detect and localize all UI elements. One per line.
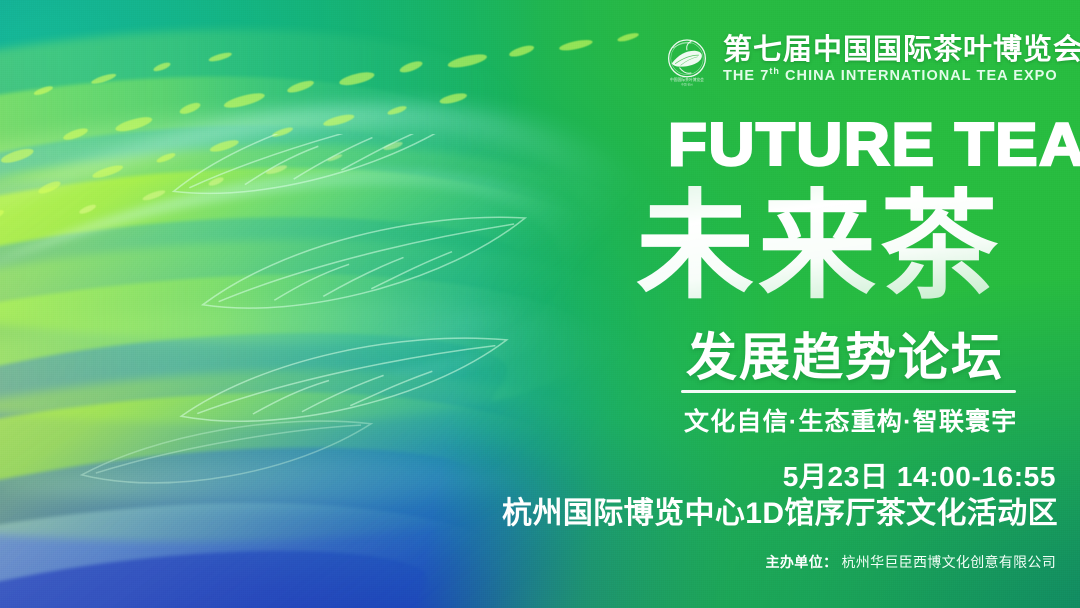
expo-title-en-prefix: THE 7 xyxy=(723,68,769,84)
slogan-text: 文化自信·生态重构·智联寰宇 xyxy=(684,406,1017,440)
expo-title-cn: 第七届中国国际茶叶博览会 xyxy=(723,35,1080,66)
organizer-block: 主办单位： 杭州华巨臣西博文化创意有限公司 xyxy=(766,552,1057,572)
expo-title-en-suffix: CHINA INTERNATIONAL TEA EXPO xyxy=(780,68,1058,84)
event-datetime: 5月23日 14:00-16:55 xyxy=(783,459,1056,494)
svg-text:中国国际茶叶博览会: 中国国际茶叶博览会 xyxy=(670,77,704,82)
horizontal-divider xyxy=(681,390,1016,393)
expo-title-en: THE 7th CHINA INTERNATIONAL TEA EXPO xyxy=(723,67,1080,85)
organizer-label: 主办单位： xyxy=(766,552,838,572)
expo-title-block: 第七届中国国际茶叶博览会 THE 7th CHINA INTERNATIONAL… xyxy=(723,35,1080,85)
expo-header-lockup: 中国国际茶叶博览会 中国·杭州 第七届中国国际茶叶博览会 THE 7th CHI… xyxy=(660,33,1080,87)
poster-content: 中国国际茶叶博览会 中国·杭州 第七届中国国际茶叶博览会 THE 7th CHI… xyxy=(0,0,1080,608)
tea-expo-emblem-icon: 中国国际茶叶博览会 中国·杭州 xyxy=(660,33,714,87)
subtitle-chinese: 发展趋势论坛 xyxy=(686,331,1004,385)
event-venue: 杭州国际博览中心1D馆序厅茶文化活动区 xyxy=(502,495,1058,533)
headline-chinese: 未来茶 xyxy=(636,186,1002,309)
organizer-name: 杭州华巨臣西博文化创意有限公司 xyxy=(842,552,1057,572)
headline-english: FUTURE TEA xyxy=(668,116,1080,174)
expo-title-en-ordinal: th xyxy=(769,66,780,76)
poster-canvas: 中国国际茶叶博览会 中国·杭州 第七届中国国际茶叶博览会 THE 7th CHI… xyxy=(0,0,1080,608)
svg-text:中国·杭州: 中国·杭州 xyxy=(681,82,693,86)
